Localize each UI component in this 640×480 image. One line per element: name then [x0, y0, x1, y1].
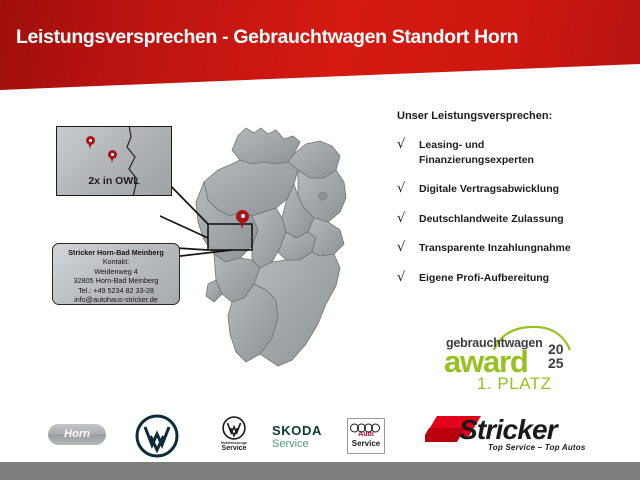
- audi-rings-icon: [349, 423, 383, 433]
- promise-item-0: √ Leasing- und Finanzierungsexperten: [397, 138, 635, 167]
- promise-item-3: √ Transparente Inzahlungnahme: [397, 241, 635, 256]
- promise-item-1: √ Digitale Vertragsabwicklung: [397, 182, 635, 197]
- slide-root: Leistungsversprechen - Gebrauchtwagen St…: [0, 0, 640, 480]
- promise-item-4: √ Eigene Profi-Aufbereitung: [397, 271, 635, 286]
- promise-item-0-label: Leasing- und Finanzierungsexperten: [419, 138, 534, 167]
- promise-item-0-line2: Finanzierungsexperten: [419, 153, 534, 168]
- skoda-service-label: Service: [272, 438, 322, 450]
- check-icon: √: [397, 182, 419, 195]
- contact-email[interactable]: info@autohaus-stricker.de: [53, 295, 179, 304]
- skoda-label: SKODA: [272, 424, 322, 438]
- footer-bar: [0, 462, 640, 480]
- stricker-logo: Stricker Top Service – Top Autos: [425, 410, 600, 458]
- promise-item-4-label: Eigene Profi-Aufbereitung: [419, 271, 549, 286]
- contact-name: Stricker Horn-Bad Meinberg: [53, 248, 179, 257]
- contact-phone: Tel.: +49 5234 82 33-28: [53, 286, 179, 295]
- promise-heading: Unser Leistungsversprechen:: [397, 110, 635, 122]
- promise-item-1-label: Digitale Vertragsabwicklung: [419, 182, 559, 197]
- skoda-service-logo: SKODA Service: [272, 424, 322, 450]
- stricker-wordmark: Stricker: [459, 414, 557, 446]
- vw-nutzfahrzeuge-service-logo: Nutzfahrzeuge Service: [205, 416, 263, 452]
- promise-list: Unser Leistungsversprechen: √ Leasing- u…: [397, 110, 635, 300]
- award-year-bottom: 25: [548, 357, 564, 371]
- owl-callout-label: 2x in OWL: [57, 175, 171, 187]
- award-line2: award: [444, 346, 528, 377]
- promise-item-0-line1: Leasing- und: [419, 138, 534, 153]
- contact-info-box: Stricker Horn-Bad Meinberg Kontakt: Weid…: [52, 243, 180, 305]
- promise-item-3-label: Transparente Inzahlungnahme: [419, 241, 571, 256]
- contact-line-1: Weidenweg 4: [53, 267, 179, 276]
- check-icon: √: [397, 138, 419, 151]
- audi-service-label: Service: [348, 439, 384, 448]
- award-rank: 1. PLATZ: [477, 374, 552, 394]
- map-marker-pin: [236, 210, 249, 229]
- horn-badge[interactable]: Horn: [48, 424, 106, 445]
- promise-item-2-label: Deutschlandweite Zulassung: [419, 212, 564, 227]
- owl-pin-1-shape: [86, 136, 95, 149]
- page-title: Leistungsversprechen - Gebrauchtwagen St…: [16, 26, 630, 49]
- check-icon: √: [397, 212, 419, 225]
- contact-line-2: 32805 Horn-Bad Meinberg: [53, 276, 179, 285]
- award-badge: gebrauchtwagen award 20 25 1. PLATZ: [432, 324, 582, 396]
- audi-service-logo: Audi Service: [347, 418, 385, 454]
- contact-line-0: Kontakt:: [53, 257, 179, 266]
- check-icon: √: [397, 271, 419, 284]
- promise-item-2: √ Deutschlandweite Zulassung: [397, 212, 635, 227]
- vw-service-label: Service: [205, 445, 263, 452]
- vw-logo: [135, 414, 179, 463]
- stricker-tagline: Top Service – Top Autos: [488, 443, 586, 452]
- award-year: 20 25: [548, 343, 564, 370]
- germany-map: [160, 112, 380, 407]
- owl-pin-2-shape: [108, 150, 117, 163]
- check-icon: √: [397, 241, 419, 254]
